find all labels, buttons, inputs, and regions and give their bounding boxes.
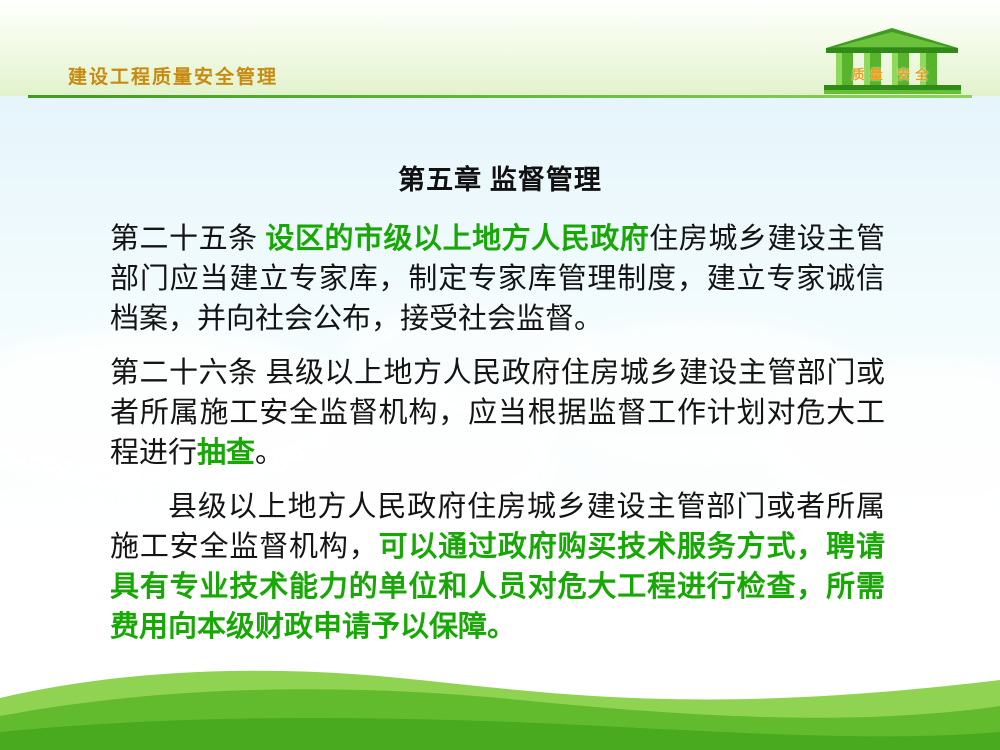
body-text: 第二十五条 bbox=[110, 223, 265, 255]
header-title: 建设工程质量安全管理 bbox=[68, 62, 278, 89]
slide-content: 第五章 监督管理 第二十五条 设区的市级以上地方人民政府住房城乡建设主管部门应当… bbox=[0, 120, 1000, 661]
highlighted-text: 设区的市级以上地方人民政府 bbox=[265, 223, 649, 255]
highlighted-text: 抽查 bbox=[197, 437, 255, 469]
chapter-title: 第五章 监督管理 bbox=[0, 158, 1000, 197]
logo-text: 质量 安全 bbox=[820, 64, 965, 83]
paragraph-article-25: 第二十五条 设区的市级以上地方人民政府住房城乡建设主管部门应当建立专家库，制定专… bbox=[0, 219, 1000, 339]
header-divider bbox=[28, 95, 972, 98]
paragraph-article-26-second: 县级以上地方人民政府住房城乡建设主管部门或者所属施工安全监督机构，可以通过政府购… bbox=[0, 487, 1000, 647]
green-building-icon: 质量 安全 bbox=[820, 26, 965, 94]
slide-header: 建设工程质量安全管理 质量 安全 bbox=[0, 0, 1000, 100]
body-text: 。 bbox=[255, 437, 284, 469]
slide: 建设工程质量安全管理 质量 安全 bbox=[0, 0, 1000, 750]
paragraph-article-26: 第二十六条 县级以上地方人民政府住房城乡建设主管部门或者所属施工安全监督机构，应… bbox=[0, 353, 1000, 473]
